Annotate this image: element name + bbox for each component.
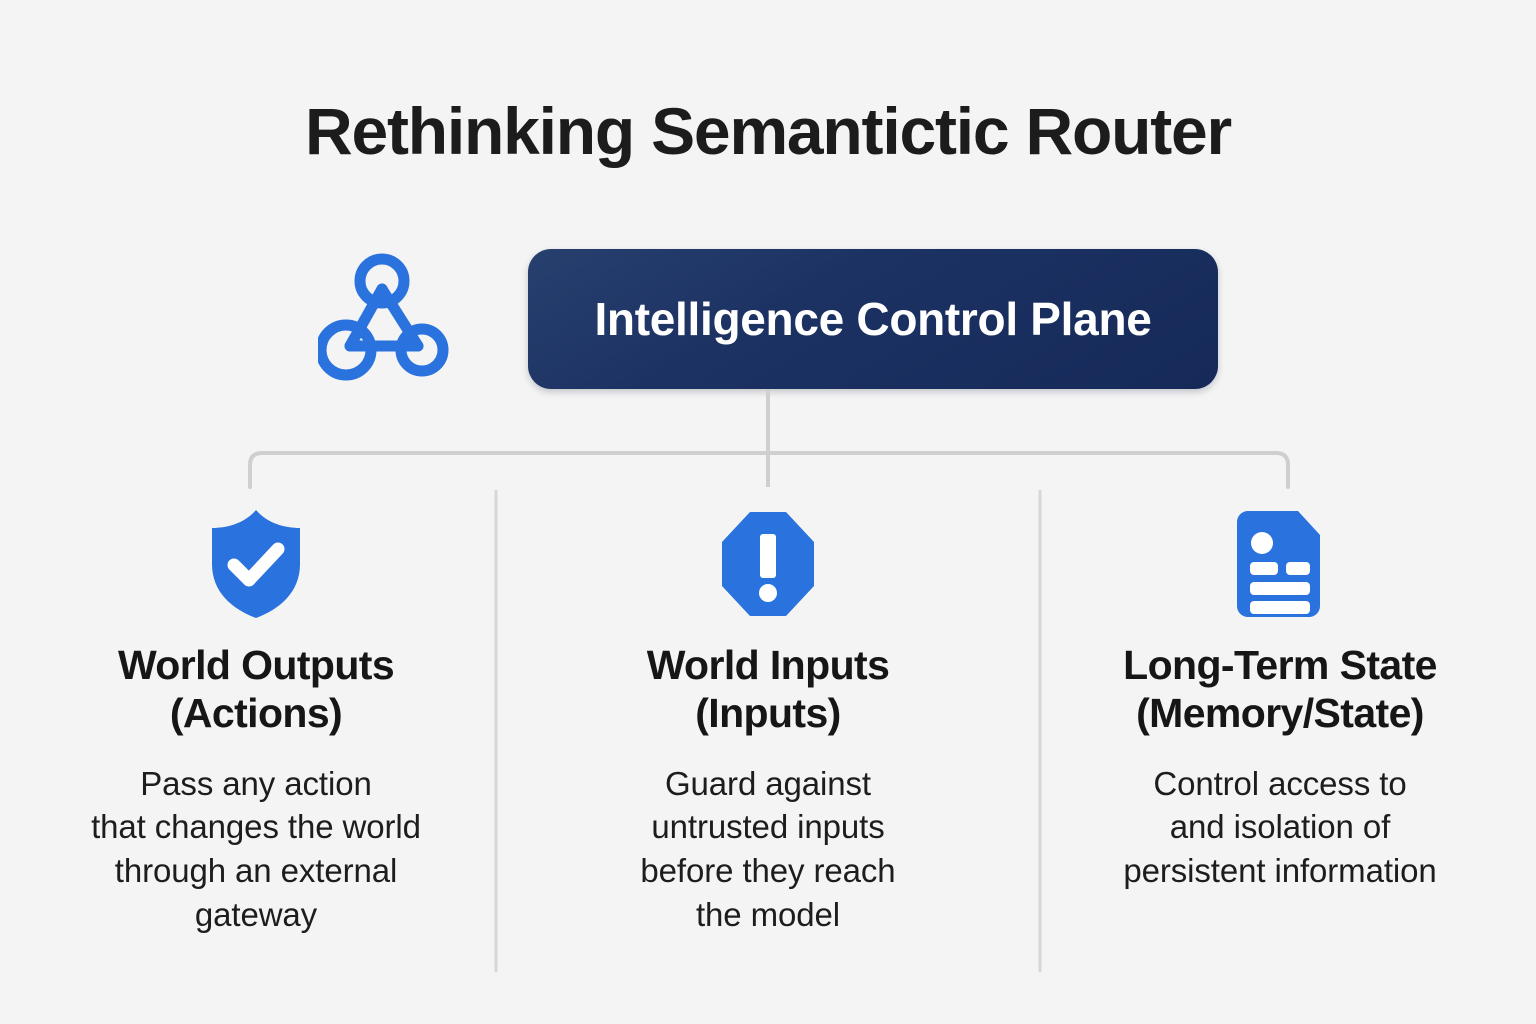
column-long-term-state: Long-Term State (Memory/State) Control a…	[1024, 508, 1536, 893]
octagon-alert-icon	[716, 508, 820, 620]
intelligence-control-plane-badge[interactable]: Intelligence Control Plane	[528, 249, 1218, 389]
column-body: Guard against untrusted inputs before th…	[640, 762, 895, 936]
brand-logo	[318, 253, 450, 385]
column-body: Pass any action that changes the world t…	[91, 762, 421, 936]
column-heading: Long-Term State (Memory/State)	[1123, 642, 1437, 738]
document-record-icon	[1228, 508, 1332, 620]
header-row: Intelligence Control Plane	[0, 248, 1536, 390]
network-graph-icon	[318, 253, 450, 385]
badge-label: Intelligence Control Plane	[594, 292, 1151, 346]
connector-bracket	[250, 453, 1288, 487]
shield-check-icon	[204, 508, 308, 620]
column-heading: World Outputs (Actions)	[118, 642, 394, 738]
column-heading: World Inputs (Inputs)	[647, 642, 890, 738]
column-world-inputs: World Inputs (Inputs) Guard against untr…	[512, 508, 1024, 936]
column-world-outputs: World Outputs (Actions) Pass any action …	[0, 508, 512, 936]
column-body: Control access to and isolation of persi…	[1123, 762, 1436, 893]
page-title: Rethinking Semantictic Router	[0, 96, 1536, 167]
columns-container: World Outputs (Actions) Pass any action …	[0, 508, 1536, 936]
